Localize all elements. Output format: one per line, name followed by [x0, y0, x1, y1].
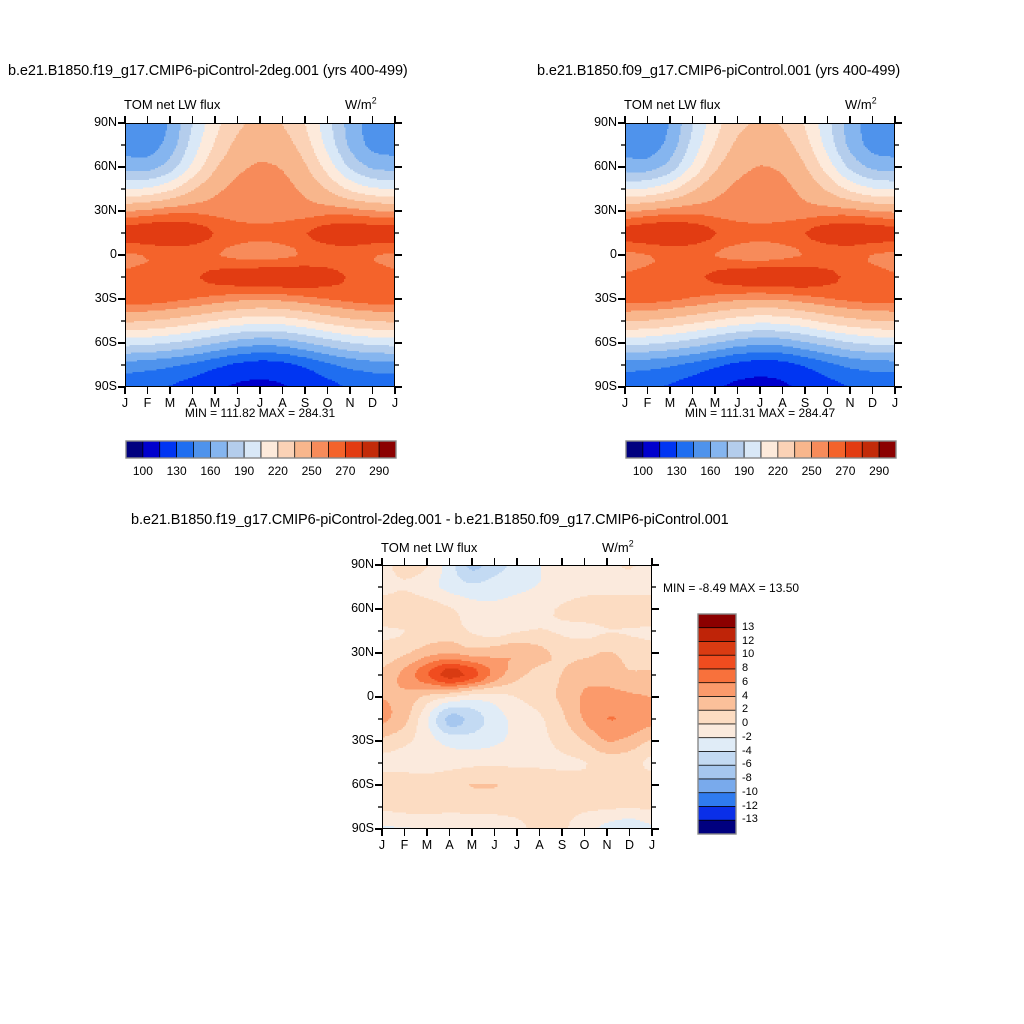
panel-control-1deg-x-tick-bottom [872, 387, 873, 394]
panel-control-2deg-y-label: 0 [73, 247, 117, 261]
panel-control-1deg-y-tick-major [618, 166, 625, 167]
panel-control-1deg-x-tick-top [827, 116, 828, 123]
panel-control-2deg-y-label: 90N [73, 115, 117, 129]
panel-control-1deg-y-tick-major-right [895, 298, 902, 299]
panel-control-2deg-y-tick-minor-right [395, 276, 399, 277]
colorbar-difference-tick-label: -13 [742, 813, 772, 825]
panel-difference-y-tick-minor [378, 806, 382, 807]
panel-difference-x-tick-bottom [516, 829, 517, 836]
panel-control-1deg-x-label: M [658, 396, 682, 410]
panel-control-1deg-x-label: F [636, 396, 660, 410]
panel-difference-x-tick-bottom [584, 829, 585, 836]
colorbar-difference-tick-label: -4 [742, 745, 772, 757]
panel-control-2deg-y-tick-major-right [395, 342, 402, 343]
panel-difference-y-label: 60N [330, 601, 374, 615]
panel-difference-y-tick-minor [378, 762, 382, 763]
panel-control-2deg-x-tick-bottom [372, 387, 373, 394]
panel-control-2deg-y-tick-major-right [395, 386, 402, 387]
panel-difference-x-tick-bottom [404, 829, 405, 836]
panel-difference-y-tick-major [375, 652, 382, 653]
panel-difference-y-tick-major [375, 696, 382, 697]
panel-difference-y-tick-major-right [652, 696, 659, 697]
panel-difference-y-label: 60S [330, 777, 374, 791]
panel-control-2deg-x-tick-top [282, 116, 283, 123]
panel-control-1deg-y-tick-minor-right [895, 276, 899, 277]
panel-control-1deg-x-tick-bottom [849, 387, 850, 394]
panel-control-1deg-y-tick-major-right [895, 210, 902, 211]
colorbar-difference-tick-label: 4 [742, 690, 772, 702]
panel-difference-y-tick-major [375, 784, 382, 785]
panel-control-2deg-x-label: J [383, 396, 407, 410]
panel-control-2deg-y-tick-major-right [395, 122, 402, 123]
panel-difference-y-tick-minor [378, 586, 382, 587]
panel-difference-x-tick-top [449, 558, 450, 565]
panel-control-1deg-y-tick-minor-right [895, 364, 899, 365]
panel-control-2deg-x-tick-bottom [124, 387, 125, 394]
panel-control-1deg-y-tick-minor-right [895, 144, 899, 145]
panel-control-2deg-x-label: S [293, 396, 317, 410]
panel-control-2deg-x-tick-top [259, 116, 260, 123]
panel-control-2deg-x-tick-bottom [147, 387, 148, 394]
colorbar-difference-tick-label: 12 [742, 635, 772, 647]
panel-difference-x-tick-bottom [426, 829, 427, 836]
panel-control-2deg-y-tick-minor-right [395, 188, 399, 189]
panel-difference-y-tick-major-right [652, 652, 659, 653]
panel-difference-x-tick-bottom [471, 829, 472, 836]
panel-difference-x-tick-bottom [606, 829, 607, 836]
panel-control-1deg-y-tick-minor-right [895, 188, 899, 189]
panel-difference-x-tick-top [629, 558, 630, 565]
panel-control-2deg-x-tick-bottom [282, 387, 283, 394]
panel-difference-x-tick-top [539, 558, 540, 565]
panel-control-1deg-y-tick-minor [621, 320, 625, 321]
panel-control-2deg-y-tick-major [118, 210, 125, 211]
panel-difference-x-tick-top [404, 558, 405, 565]
panel-control-2deg-x-label: D [361, 396, 385, 410]
panel-control-2deg-y-tick-major [118, 342, 125, 343]
panel-control-1deg-x-label: D [861, 396, 885, 410]
panel-difference-x-tick-top [516, 558, 517, 565]
panel-difference-minmax: MIN = -8.49 MAX = 13.50 [663, 581, 799, 595]
panel-control-1deg-y-tick-major [618, 298, 625, 299]
panel-difference-x-label: A [438, 838, 462, 852]
panel-control-2deg-x-label: O [316, 396, 340, 410]
panel-control-1deg-x-label: J [883, 396, 907, 410]
colorbar-control-2deg-tick-label: 290 [359, 464, 399, 478]
panel-control-1deg-y-label: 30N [573, 203, 617, 217]
panel-difference-title: b.e21.B1850.f19_g17.CMIP6-piControl-2deg… [131, 512, 729, 528]
panel-control-2deg-x-tick-bottom [327, 387, 328, 394]
panel-control-2deg-x-tick-top [394, 116, 395, 123]
panel-control-2deg-x-label: N [338, 396, 362, 410]
panel-control-1deg-y-label: 0 [573, 247, 617, 261]
panel-control-2deg-x-tick-bottom [214, 387, 215, 394]
panel-control-2deg-x-tick-top [124, 116, 125, 123]
panel-control-1deg-y-tick-minor-right [895, 232, 899, 233]
panel-control-1deg-x-tick-top [669, 116, 670, 123]
colorbar-difference-tick-label: 6 [742, 676, 772, 688]
colorbar-difference-tick-label: 8 [742, 662, 772, 674]
panel-control-1deg-x-tick-bottom [669, 387, 670, 394]
panel-control-2deg-y-tick-major [118, 298, 125, 299]
panel-control-2deg-y-tick-minor-right [395, 320, 399, 321]
panel-control-1deg-x-label: J [613, 396, 637, 410]
panel-control-1deg-x-label: A [681, 396, 705, 410]
panel-difference-x-label: J [640, 838, 664, 852]
panel-control-2deg-y-tick-minor [121, 232, 125, 233]
panel-control-2deg-x-tick-top [169, 116, 170, 123]
panel-control-2deg-y-tick-minor [121, 276, 125, 277]
panel-control-2deg-y-tick-major-right [395, 298, 402, 299]
panel-control-2deg-y-label: 60N [73, 159, 117, 173]
panel-control-1deg-x-tick-bottom [804, 387, 805, 394]
panel-difference-x-tick-top [584, 558, 585, 565]
panel-control-2deg-x-label: F [136, 396, 160, 410]
panel-difference-y-tick-minor [378, 674, 382, 675]
panel-control-1deg-plot-frame [625, 123, 895, 387]
panel-control-2deg-x-tick-bottom [192, 387, 193, 394]
panel-control-1deg-x-label: A [771, 396, 795, 410]
panel-difference-y-tick-minor-right [652, 806, 656, 807]
panel-control-2deg-x-tick-top [349, 116, 350, 123]
colorbar-difference-tick-label: -12 [742, 800, 772, 812]
panel-difference-x-label: F [393, 838, 417, 852]
panel-difference-y-tick-major [375, 608, 382, 609]
panel-difference-x-label: M [415, 838, 439, 852]
colorbar-difference-tick-label: 2 [742, 703, 772, 715]
panel-difference-y-tick-major-right [652, 784, 659, 785]
panel-control-2deg-x-tick-bottom [169, 387, 170, 394]
panel-control-2deg-y-label: 90S [73, 379, 117, 393]
panel-control-1deg-y-label: 60N [573, 159, 617, 173]
panel-control-1deg-y-tick-major-right [895, 254, 902, 255]
panel-control-1deg-x-label: J [726, 396, 750, 410]
colorbar-difference-tick-label: 0 [742, 717, 772, 729]
panel-control-1deg-y-tick-major-right [895, 122, 902, 123]
panel-control-2deg-y-label: 30N [73, 203, 117, 217]
panel-control-2deg-x-tick-bottom [394, 387, 395, 394]
panel-control-1deg-x-tick-bottom [827, 387, 828, 394]
panel-difference-x-tick-top [606, 558, 607, 565]
panel-difference-x-label: M [460, 838, 484, 852]
panel-difference-x-tick-bottom [449, 829, 450, 836]
panel-control-1deg-x-tick-bottom [714, 387, 715, 394]
panel-control-2deg-x-tick-top [372, 116, 373, 123]
panel-control-2deg-x-tick-top [237, 116, 238, 123]
panel-control-1deg-y-label: 90N [573, 115, 617, 129]
panel-control-1deg-y-tick-major [618, 210, 625, 211]
panel-control-1deg-x-tick-top [714, 116, 715, 123]
panel-control-1deg-x-tick-top [737, 116, 738, 123]
panel-control-2deg-x-label: A [271, 396, 295, 410]
panel-control-1deg-x-label: J [748, 396, 772, 410]
colorbar-difference-tick-label: -10 [742, 786, 772, 798]
panel-difference-y-tick-major-right [652, 828, 659, 829]
panel-control-1deg-y-tick-major-right [895, 166, 902, 167]
panel-control-2deg-x-tick-bottom [237, 387, 238, 394]
panel-difference-x-tick-bottom [539, 829, 540, 836]
panel-difference-x-label: J [483, 838, 507, 852]
panel-control-2deg-x-label: J [113, 396, 137, 410]
panel-difference-x-label: S [550, 838, 574, 852]
panel-control-2deg-y-tick-minor-right [395, 364, 399, 365]
panel-control-1deg-x-tick-bottom [894, 387, 895, 394]
colorbar-control-2deg [125, 440, 397, 459]
panel-difference-y-label: 90S [330, 821, 374, 835]
panel-difference-y-label: 30S [330, 733, 374, 747]
colorbar-difference-tick-label: -6 [742, 758, 772, 770]
panel-control-1deg-x-label: M [703, 396, 727, 410]
panel-control-2deg-x-tick-top [147, 116, 148, 123]
panel-difference-x-tick-bottom [561, 829, 562, 836]
panel-difference-y-tick-minor-right [652, 762, 656, 763]
panel-control-1deg-x-tick-top [759, 116, 760, 123]
panel-difference-y-tick-major-right [652, 608, 659, 609]
panel-difference-x-tick-top [426, 558, 427, 565]
panel-control-1deg-x-tick-bottom [782, 387, 783, 394]
colorbar-difference [697, 613, 737, 835]
panel-control-1deg-y-label: 30S [573, 291, 617, 305]
panel-control-2deg-x-label: M [158, 396, 182, 410]
panel-difference-variable-label: TOM net LW flux [381, 540, 477, 555]
panel-difference-y-tick-minor [378, 718, 382, 719]
panel-control-2deg-x-tick-top [214, 116, 215, 123]
panel-control-1deg-y-tick-minor [621, 144, 625, 145]
colorbar-difference-tick-label: -8 [742, 772, 772, 784]
panel-control-2deg-y-tick-minor [121, 364, 125, 365]
panel-control-2deg-y-tick-major-right [395, 254, 402, 255]
panel-difference-x-tick-top [651, 558, 652, 565]
panel-control-2deg-y-label: 60S [73, 335, 117, 349]
panel-difference-x-tick-bottom [629, 829, 630, 836]
panel-control-1deg-y-tick-minor-right [895, 320, 899, 321]
panel-difference-x-label: J [505, 838, 529, 852]
panel-control-2deg-x-tick-bottom [259, 387, 260, 394]
panel-difference-x-label: J [370, 838, 394, 852]
panel-control-1deg-y-tick-major-right [895, 386, 902, 387]
panel-control-1deg-x-tick-top [624, 116, 625, 123]
colorbar-difference-tick-label: 10 [742, 648, 772, 660]
panel-difference-y-tick-major [375, 740, 382, 741]
panel-difference-plot-frame [382, 565, 652, 829]
panel-difference-y-tick-major-right [652, 564, 659, 565]
panel-difference-x-tick-top [561, 558, 562, 565]
panel-difference-y-tick-minor [378, 630, 382, 631]
panel-difference-x-label: A [528, 838, 552, 852]
colorbar-control-1deg [625, 440, 897, 459]
panel-control-1deg-x-tick-top [692, 116, 693, 123]
panel-control-2deg-y-tick-minor [121, 188, 125, 189]
panel-difference-x-tick-bottom [651, 829, 652, 836]
panel-control-1deg-x-label: S [793, 396, 817, 410]
colorbar-difference-tick-label: 13 [742, 621, 772, 633]
panel-control-1deg-y-label: 90S [573, 379, 617, 393]
panel-difference-x-tick-bottom [494, 829, 495, 836]
panel-control-2deg-y-tick-major-right [395, 166, 402, 167]
panel-control-1deg-y-tick-minor [621, 276, 625, 277]
panel-difference-x-tick-bottom [381, 829, 382, 836]
panel-difference-y-label: 30N [330, 645, 374, 659]
colorbar-control-1deg-tick-label: 290 [859, 464, 899, 478]
panel-control-2deg-y-tick-minor [121, 144, 125, 145]
panel-difference-x-tick-top [471, 558, 472, 565]
panel-difference-y-tick-minor-right [652, 674, 656, 675]
panel-difference-y-label: 90N [330, 557, 374, 571]
panel-difference-y-label: 0 [330, 689, 374, 703]
panel-control-1deg-x-tick-bottom [647, 387, 648, 394]
panel-control-2deg-y-tick-minor-right [395, 232, 399, 233]
panel-control-1deg-y-tick-major [618, 342, 625, 343]
panel-control-1deg-y-tick-minor [621, 232, 625, 233]
panel-control-1deg-x-tick-top [872, 116, 873, 123]
panel-control-1deg-x-label: O [816, 396, 840, 410]
panel-control-2deg-x-tick-bottom [304, 387, 305, 394]
panel-difference-y-tick-minor-right [652, 586, 656, 587]
panel-control-2deg-x-label: M [203, 396, 227, 410]
panel-control-2deg-y-tick-minor-right [395, 144, 399, 145]
panel-control-1deg-x-tick-bottom [624, 387, 625, 394]
panel-difference-y-tick-minor-right [652, 718, 656, 719]
panel-control-2deg-x-tick-top [304, 116, 305, 123]
panel-control-1deg-x-tick-top [782, 116, 783, 123]
panel-control-1deg-x-tick-bottom [737, 387, 738, 394]
panel-difference-y-tick-major-right [652, 740, 659, 741]
panel-control-2deg-x-label: J [248, 396, 272, 410]
panel-control-2deg-x-tick-top [192, 116, 193, 123]
panel-control-2deg-y-tick-major-right [395, 210, 402, 211]
panel-control-2deg-y-tick-major [118, 254, 125, 255]
panel-difference-x-label: N [595, 838, 619, 852]
panel-control-1deg-y-tick-minor [621, 188, 625, 189]
panel-control-2deg-x-tick-top [327, 116, 328, 123]
panel-difference-x-label: O [573, 838, 597, 852]
panel-control-2deg-plot-frame [125, 123, 395, 387]
panel-control-1deg-x-tick-bottom [692, 387, 693, 394]
panel-difference-x-label: D [618, 838, 642, 852]
panel-control-1deg-y-tick-minor [621, 364, 625, 365]
panel-control-1deg-y-tick-major [618, 254, 625, 255]
panel-control-1deg-x-tick-top [849, 116, 850, 123]
panel-control-1deg-y-label: 60S [573, 335, 617, 349]
panel-control-2deg-x-label: A [181, 396, 205, 410]
panel-difference-y-tick-minor-right [652, 630, 656, 631]
panel-control-2deg-y-tick-major [118, 166, 125, 167]
panel-control-2deg-y-tick-minor [121, 320, 125, 321]
panel-difference-x-tick-top [381, 558, 382, 565]
panel-difference-x-tick-top [494, 558, 495, 565]
panel-control-1deg-x-tick-top [647, 116, 648, 123]
panel-control-1deg-x-tick-bottom [759, 387, 760, 394]
panel-control-2deg-y-label: 30S [73, 291, 117, 305]
panel-control-2deg-x-tick-bottom [349, 387, 350, 394]
panel-difference-units-label: W/m2 [602, 540, 634, 555]
panel-control-2deg-x-label: J [226, 396, 250, 410]
panel-control-1deg-x-tick-top [804, 116, 805, 123]
panel-control-1deg-y-tick-major-right [895, 342, 902, 343]
panel-control-1deg-x-label: N [838, 396, 862, 410]
panel-control-1deg-x-tick-top [894, 116, 895, 123]
colorbar-difference-tick-label: -2 [742, 731, 772, 743]
